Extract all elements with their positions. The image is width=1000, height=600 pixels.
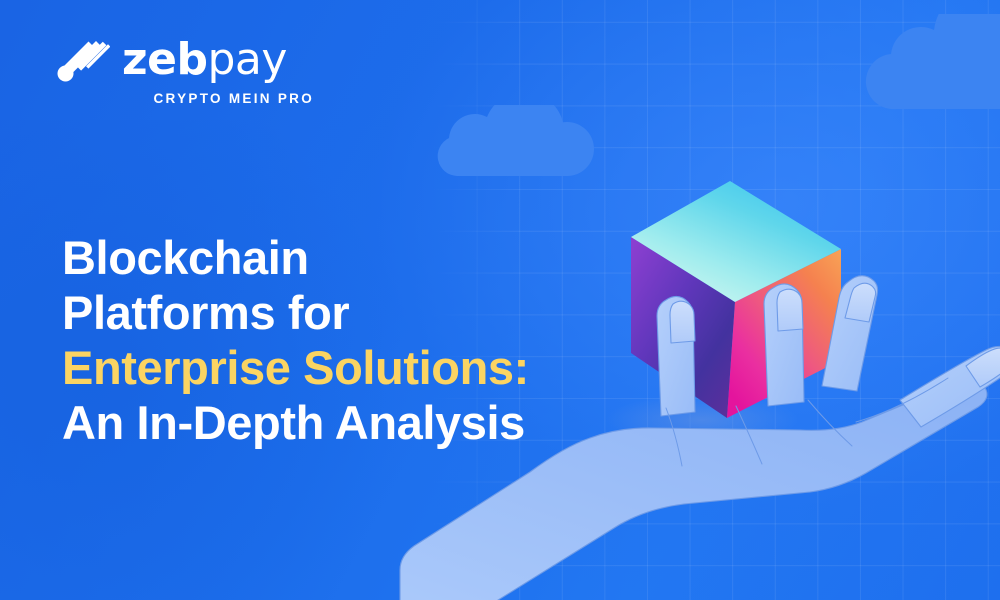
- blog-banner: zebpay CRYPTO MEIN PRO Blockchain Platfo…: [0, 0, 1000, 600]
- logo-word-first: zeb: [122, 34, 207, 85]
- hand-nail-middle: [777, 289, 803, 331]
- hero-illustration: [470, 100, 1000, 600]
- logo-word-second: pay: [207, 34, 286, 85]
- logo-tagline: CRYPTO MEIN PRO: [56, 91, 314, 106]
- logo-row: zebpay: [56, 36, 316, 84]
- zebpay-fan-mark-icon: [56, 36, 110, 84]
- logo-wordmark: zebpay: [122, 38, 287, 82]
- hand-nail-index: [670, 301, 695, 343]
- brand-logo[interactable]: zebpay CRYPTO MEIN PRO: [56, 36, 316, 106]
